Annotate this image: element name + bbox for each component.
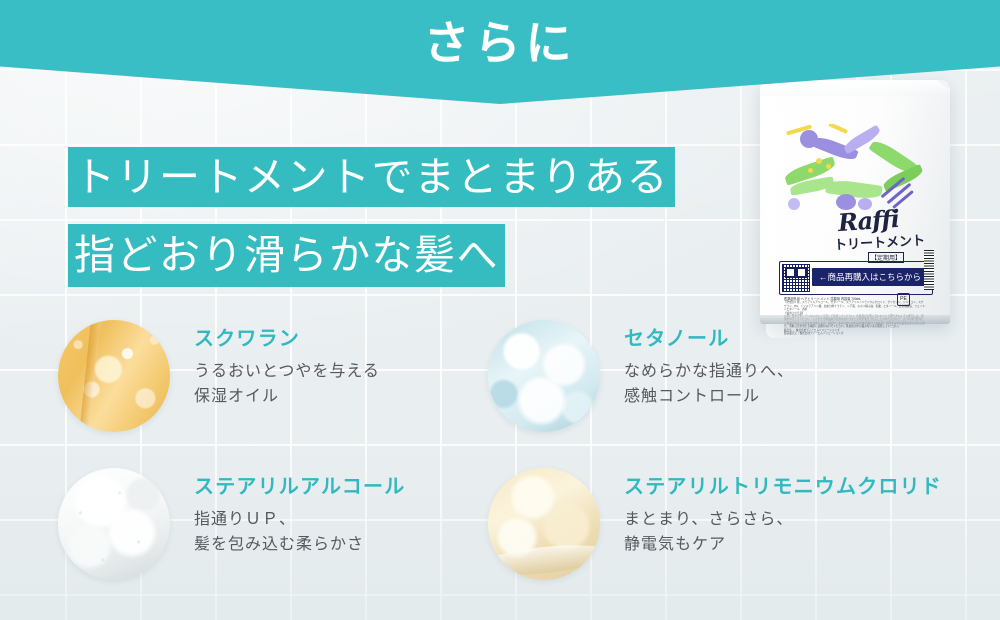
fineprint-caution-head: 【使用上の注意】 (784, 312, 926, 315)
squalane-oil-texture (58, 320, 170, 432)
dot-shape (816, 158, 822, 164)
fineprint-caution-body: お肌に異常が生じていないかよく注意して使用してください。化粧品がお肌に合わないと… (784, 315, 926, 329)
product-type-label: トリートメント (834, 230, 926, 254)
product-package: Raffi トリートメント 【定期用】 ←商品再購入はこちらから 医薬部外品 ヘ… (760, 58, 950, 324)
stripe-shape (828, 124, 848, 134)
headline-highlight-2: 指どおり滑らかな髪へ (68, 224, 505, 287)
ingredient-text-squalane: スクワラン うるおいとつやを与える 保湿オイル (194, 328, 380, 410)
cetanol-crystal-texture (488, 320, 600, 432)
pouch-body: Raffi トリートメント 【定期用】 ←商品再購入はこちらから 医薬部外品 ヘ… (760, 80, 950, 324)
recycle-mark-icon: PE (897, 293, 910, 306)
ingredient-text-cetanol: セタノール なめらかな指通りへ、 感触コントロール (624, 328, 794, 410)
ingredient-desc-line1: うるおいとつやを与える (194, 360, 380, 385)
headline-line-2: 指どおり滑らかな髪へ (68, 224, 505, 287)
ingredient-title: スクワラン (194, 328, 380, 350)
dot-shape (826, 164, 831, 169)
ingredient-title: セタノール (624, 328, 794, 350)
ingredient-desc-line2: 感触コントロール (624, 385, 794, 410)
ingredient-title: ステアリルトリモニウムクロリド (624, 476, 942, 498)
dot-shape (800, 130, 818, 148)
dot-shape (808, 168, 813, 173)
repurchase-banner[interactable]: ←商品再購入はこちらから (812, 268, 928, 286)
promo-graphic: Raffi トリートメント 【定期用】 ←商品再購入はこちらから 医薬部外品 ヘ… (0, 0, 1000, 620)
ingredient-desc-line2: 髪を包み込む柔らかさ (194, 533, 405, 558)
ingredient-desc-line1: まとまり、さらさら、 (624, 508, 942, 533)
ingredient-title: ステアリルアルコール (194, 476, 405, 498)
headline-line-1: トリートメントでまとまりある (68, 147, 675, 207)
ingredient-image-stearyl-alcohol (58, 468, 170, 580)
dot-shape (788, 198, 800, 210)
ingredient-desc-line1: 指通りＵＰ、 (194, 508, 405, 533)
ingredient-text-stearyl-alcohol: ステアリルアルコール 指通りＵＰ、 髪を包み込む柔らかさ (194, 476, 405, 558)
ingredient-image-squalane (58, 320, 170, 432)
ingredient-image-stearyltrimonium-chloride (488, 468, 600, 580)
botanical-illustration (782, 124, 930, 216)
banner-title: さらに (0, 18, 1000, 69)
ingredient-text-stearyltrimonium-chloride: ステアリルトリモニウムクロリド まとまり、さらさら、 静電気もケア (624, 476, 942, 558)
fineprint-maker-body: 製造販売元：株式会社ディーエムソリューションズ (784, 332, 926, 335)
stearyl-alcohol-powder-texture (58, 468, 170, 580)
barcode-icon (924, 250, 934, 290)
ingredient-desc-line1: なめらかな指通りへ、 (624, 360, 794, 385)
headline-highlight-1: トリートメントでまとまりある (68, 147, 675, 207)
ingredient-desc-line2: 保湿オイル (194, 385, 380, 410)
ingredient-desc-line2: 静電気もケア (624, 533, 942, 558)
stearyltrimonium-chloride-wax-texture (488, 468, 600, 580)
ingredient-image-cetanol (488, 320, 600, 432)
qr-code-icon[interactable] (782, 264, 810, 292)
